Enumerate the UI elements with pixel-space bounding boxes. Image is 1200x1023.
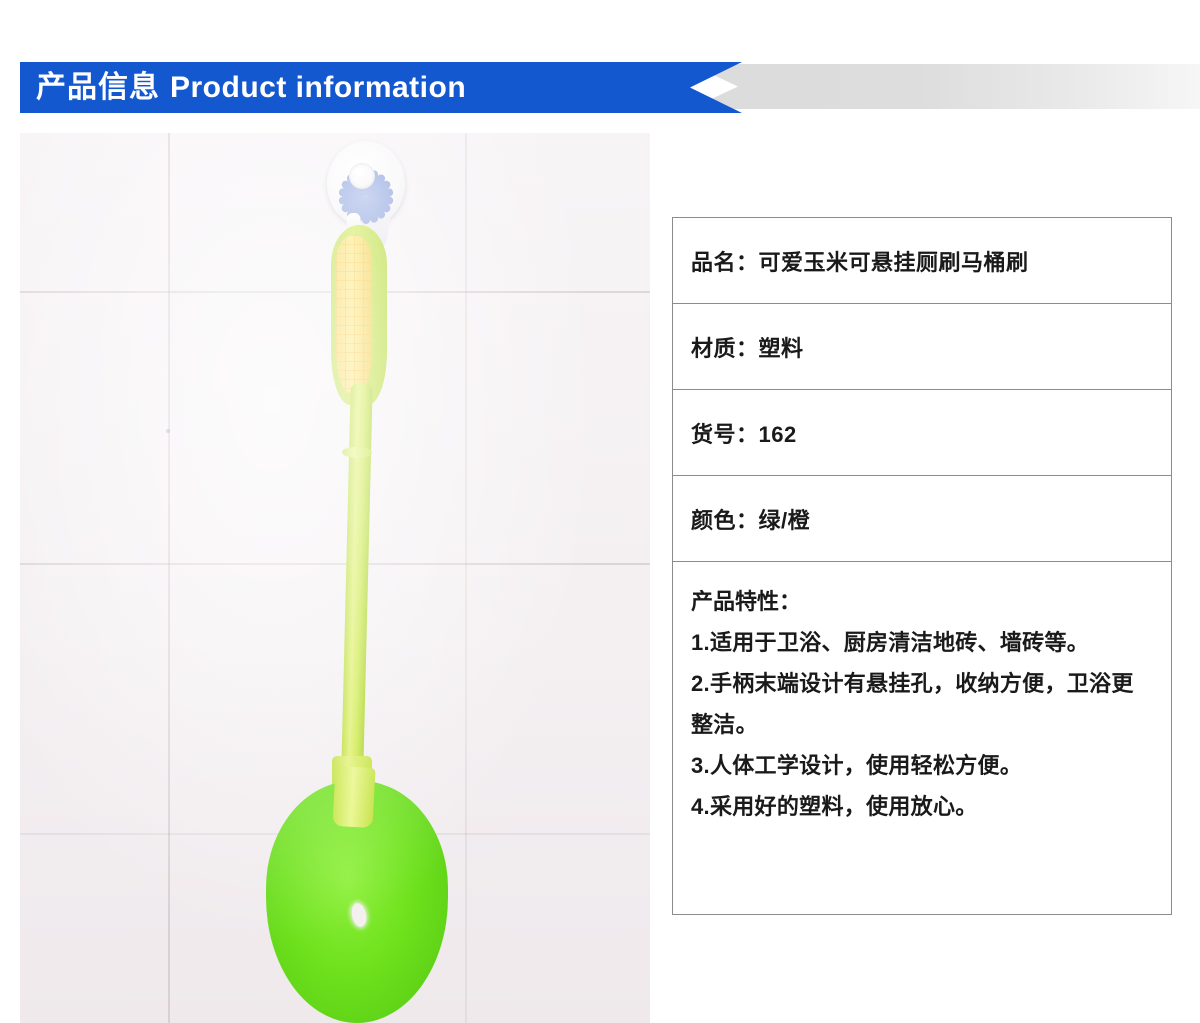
feature-item: 3.人体工学设计，使用轻松方便。 [691,745,1153,786]
info-material-label: 材质：塑料 [691,331,804,363]
info-item-number-label: 货号：162 [691,417,797,449]
product-features-section: 产品特性： 1.适用于卫浴、厨房清洁地砖、墙砖等。 2.手柄末端设计有悬挂孔，收… [673,562,1171,914]
product-info-table: 品名：可爱玉米可悬挂厕刷马桶刷 材质：塑料 货号：162 颜色：绿/橙 产品特性… [672,217,1172,915]
cob-kernels [336,235,372,393]
feature-item: 4.采用好的塑料，使用放心。 [691,786,1153,827]
brush-collar [332,766,375,828]
info-name-label: 品名：可爱玉米可悬挂厕刷马桶刷 [691,245,1029,277]
grout-line-vertical [168,133,170,1023]
table-row: 货号：162 [673,390,1171,476]
hook-center [349,163,375,189]
features-title: 产品特性： [691,584,1153,616]
tile-screw-dot [166,429,170,433]
feature-item: 2.手柄末端设计有悬挂孔，收纳方便，卫浴更整洁。 [691,663,1153,745]
grout-line-horizontal [20,563,650,565]
brush-head [248,771,466,1023]
banner-title-en: Product information [170,71,466,104]
corn-cob-handle-top [331,225,387,405]
table-row: 品名：可爱玉米可悬挂厕刷马桶刷 [673,218,1171,304]
banner-gray-tail [690,64,1200,109]
product-information-banner: 产品信息Product information [0,62,1200,113]
banner-title-cn: 产品信息 [36,71,160,104]
feature-item: 1.适用于卫浴、厨房清洁地砖、墙砖等。 [691,622,1153,663]
table-row: 材质：塑料 [673,304,1171,390]
table-row: 颜色：绿/橙 [673,476,1171,562]
product-photo [20,133,650,1023]
info-color-label: 颜色：绿/橙 [691,503,810,535]
banner-title: 产品信息Product information [36,62,466,113]
